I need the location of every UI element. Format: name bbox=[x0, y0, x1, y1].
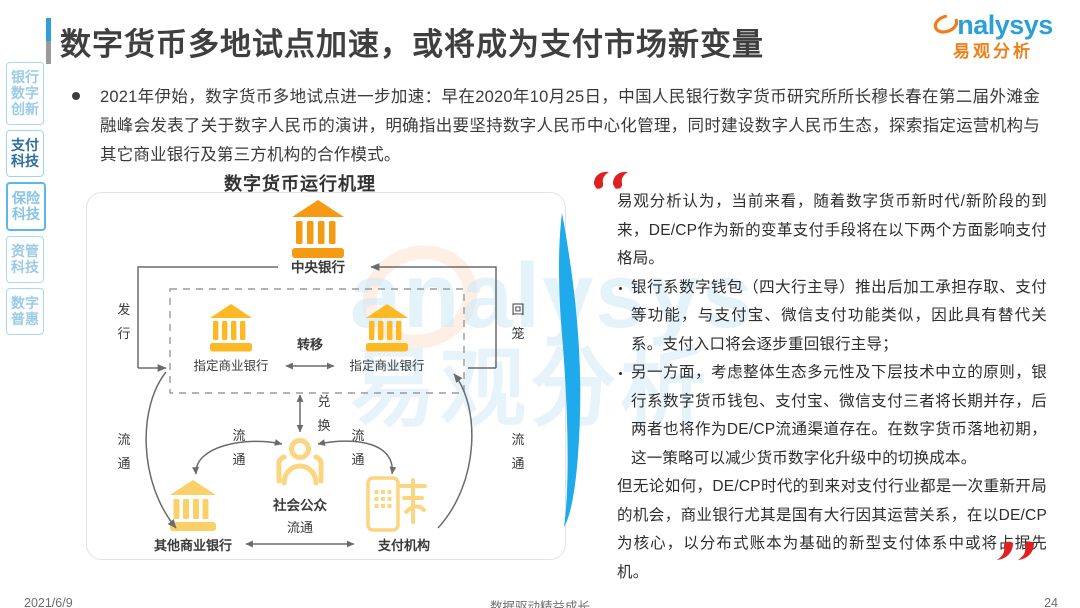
logo-wordmark: nalysys bbox=[957, 12, 1053, 39]
edge-label-circulate-left: 流 bbox=[117, 432, 130, 447]
sidebar-item-insurance-tech[interactable]: 保险科技 bbox=[6, 182, 46, 231]
commentary-closing: 但无论如何，DE/CP时代的到来对支付行业都是一次重新开局的机会，商业银行尤其是… bbox=[617, 473, 1047, 587]
edge-label-exchange-2: 换 bbox=[317, 418, 330, 433]
sidebar: 银行数字创新 支付科技 保险科技 资管科技 数字普惠 bbox=[6, 62, 44, 340]
logo-chinese: 易观分析 bbox=[928, 43, 1058, 60]
logo-wordmark-row: nalysys bbox=[928, 8, 1058, 42]
edge-label-circulate-left-2: 通 bbox=[117, 456, 130, 471]
sidebar-item-label: 银行数字创新 bbox=[7, 69, 43, 117]
sidebar-item-label: 保险科技 bbox=[8, 190, 44, 222]
node-label-central-bank: 中央银行 bbox=[291, 259, 345, 275]
quote-open-icon bbox=[592, 170, 632, 192]
footer-slogan: 数据驱动精益成长 bbox=[0, 596, 1080, 608]
edge-label-exchange: 兑 bbox=[317, 394, 330, 409]
body-bullet-icon bbox=[72, 92, 80, 100]
commentary-intro: 易观分析认为，当前来看，随着数字货币新时代/新阶段的到来，DE/CP作为新的变革… bbox=[617, 188, 1047, 274]
central-bank-icon bbox=[292, 200, 344, 258]
node-label-designated-bank-right: 指定商业银行 bbox=[349, 358, 424, 373]
sidebar-item-label: 资管科技 bbox=[7, 243, 43, 275]
designated-bank-left-icon bbox=[210, 304, 252, 352]
edge-label-issue-2: 行 bbox=[117, 326, 130, 341]
edge-label-withdraw: 回 bbox=[511, 302, 524, 317]
node-label-public: 社会公众 bbox=[272, 497, 327, 513]
edge-label-circulate-right: 流 bbox=[511, 432, 524, 447]
edge-circulate-right bbox=[438, 374, 472, 528]
commentary-column: 易观分析认为，当前来看，随着数字货币新时代/新阶段的到来，DE/CP作为新的变革… bbox=[617, 188, 1047, 587]
digital-currency-flow-diagram: 中央银行 发 行 回 笼 指定商业银行 指定 bbox=[86, 192, 564, 558]
title-accent-bottom bbox=[46, 41, 51, 64]
sidebar-item-asset-management-tech[interactable]: 资管科技 bbox=[6, 236, 44, 283]
analysys-logo: nalysys 易观分析 bbox=[928, 8, 1058, 60]
quote-close-icon bbox=[995, 540, 1037, 564]
public-people-icon bbox=[279, 441, 322, 484]
footer-page-number: 24 bbox=[1044, 596, 1058, 608]
edge-label-transfer: 转移 bbox=[297, 337, 323, 352]
commentary-bullet-1: 银行系数字钱包（四大行主导）推出后加工承担存取、支付等功能，与支付宝、微信支付功… bbox=[617, 274, 1047, 360]
edge-label-issue: 发 bbox=[117, 302, 130, 317]
edge-label-circ-mid-left-2: 通 bbox=[232, 452, 245, 467]
edge-label-circ-mid-left: 流 bbox=[232, 428, 245, 443]
commentary-bullet-2: 另一方面，考虑整体生态多元性及下层技术中立的原则，银行系数字货币钱包、支付宝、微… bbox=[617, 359, 1047, 473]
edge-label-circulate-right-2: 通 bbox=[511, 456, 524, 471]
sidebar-item-label: 支付科技 bbox=[7, 137, 43, 169]
sidebar-item-label: 数字普惠 bbox=[7, 295, 43, 327]
payment-institution-icon bbox=[368, 478, 425, 530]
logo-swoosh-icon bbox=[933, 12, 959, 38]
slide-root: analysys 易观分析 数字货币多地试点加速，或将成为支付市场新变量 nal… bbox=[0, 0, 1080, 608]
sidebar-item-digital-inclusive-finance[interactable]: 数字普惠 bbox=[6, 288, 44, 335]
edge-circulate-left bbox=[146, 372, 176, 528]
designated-bank-right-icon bbox=[366, 304, 408, 352]
node-label-designated-bank-left: 指定商业银行 bbox=[193, 358, 268, 373]
sidebar-item-bank-digital-innovation[interactable]: 银行数字创新 bbox=[6, 62, 44, 125]
edge-label-withdraw-2: 笼 bbox=[511, 326, 524, 341]
title-accent-top bbox=[46, 18, 51, 41]
node-label-other-bank: 其他商业银行 bbox=[154, 538, 232, 553]
node-label-payment-institution: 支付机构 bbox=[377, 538, 430, 553]
blue-lens-divider bbox=[548, 205, 598, 535]
other-commercial-bank-icon bbox=[170, 480, 216, 531]
edge-issue-path bbox=[138, 267, 278, 368]
edge-label-circ-mid-right: 流 bbox=[351, 428, 364, 443]
page-title: 数字货币多地试点加速，或将成为支付市场新变量 bbox=[60, 19, 764, 64]
commentary-bullet-list: 银行系数字钱包（四大行主导）推出后加工承担存取、支付等功能，与支付宝、微信支付功… bbox=[617, 274, 1047, 474]
title-accent-bar bbox=[46, 18, 51, 64]
sidebar-item-payment-tech[interactable]: 支付科技 bbox=[6, 130, 44, 177]
body-paragraph: 2021年伊始，数字货币多地试点进一步加速：早在2020年10月25日，中国人民… bbox=[100, 83, 1040, 170]
edge-label-circ-mid-right-2: 通 bbox=[351, 452, 364, 467]
edge-label-circ-bottom: 流通 bbox=[287, 520, 313, 535]
